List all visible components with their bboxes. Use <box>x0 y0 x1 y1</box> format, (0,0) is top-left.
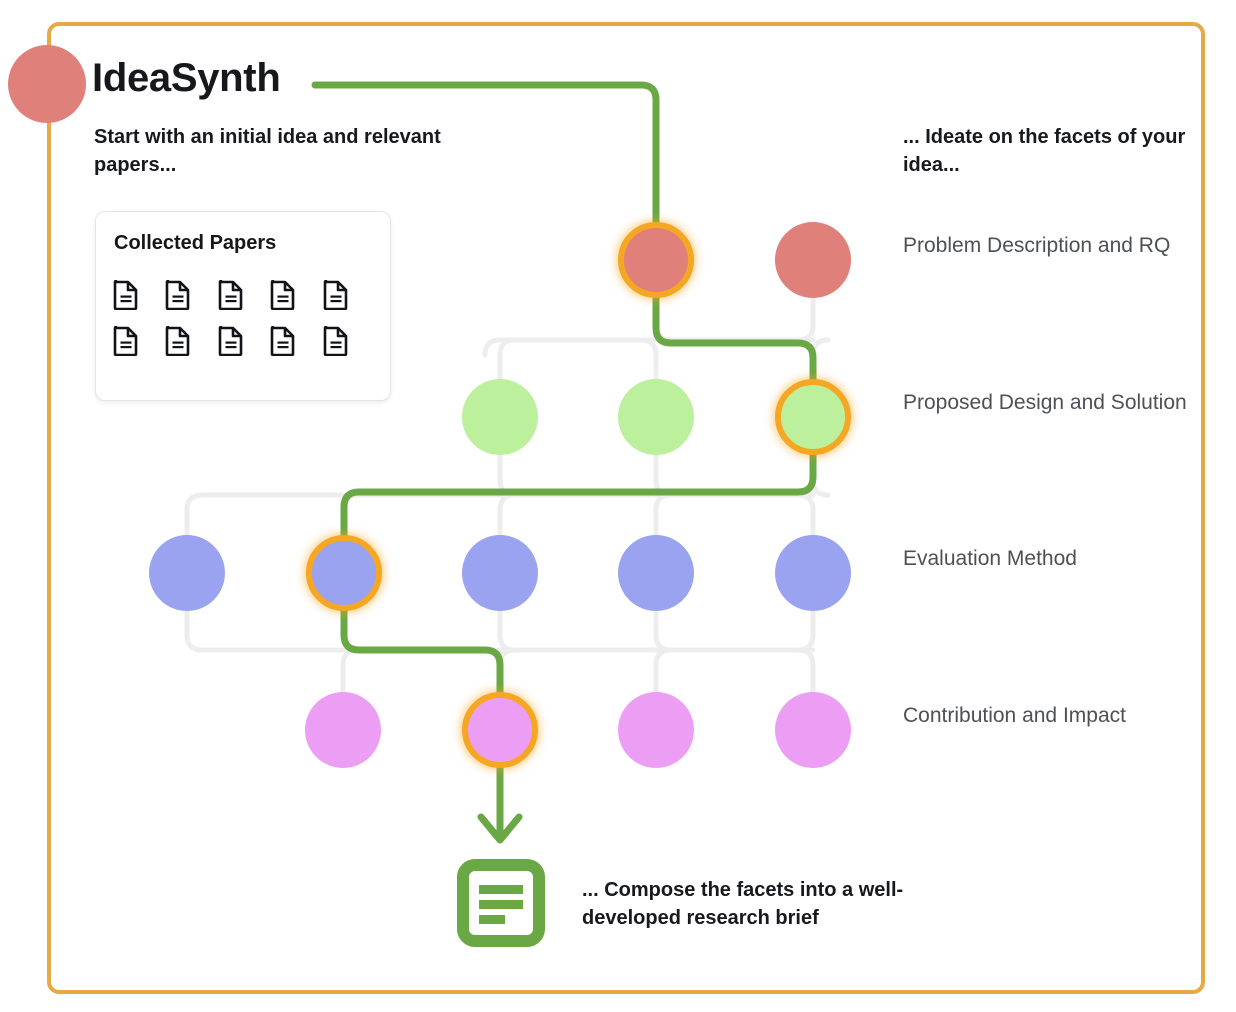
facet-node-evaluation-5[interactable] <box>775 535 851 611</box>
facet-node-design-2[interactable] <box>618 379 694 455</box>
collected-papers-card[interactable]: Collected Papers <box>95 211 391 401</box>
collected-papers-grid <box>113 280 375 356</box>
facet-node-evaluation-4[interactable] <box>618 535 694 611</box>
page-title: IdeaSynth <box>92 58 280 98</box>
ideasynth-diagram: IdeaSynth Start with an initial idea and… <box>0 0 1236 1012</box>
document-icon[interactable] <box>270 326 296 356</box>
intro-caption: Start with an initial idea and relevant … <box>94 124 454 179</box>
facet-node-evaluation-1[interactable] <box>149 535 225 611</box>
facet-node-contribution-2[interactable] <box>462 692 538 768</box>
document-icon[interactable] <box>113 280 139 310</box>
document-icon[interactable] <box>323 280 349 310</box>
facet-node-design-1[interactable] <box>462 379 538 455</box>
document-icon[interactable] <box>165 326 191 356</box>
research-brief-icon[interactable] <box>457 859 545 947</box>
document-icon[interactable] <box>218 280 244 310</box>
facet-label-contribution: Contribution and Impact <box>903 701 1193 731</box>
facet-label-problem: Problem Description and RQ <box>903 231 1193 261</box>
facet-node-design-3[interactable] <box>775 379 851 455</box>
document-icon[interactable] <box>270 280 296 310</box>
document-icon[interactable] <box>113 326 139 356</box>
facet-node-problem-2[interactable] <box>775 222 851 298</box>
facet-node-contribution-4[interactable] <box>775 692 851 768</box>
facet-node-contribution-1[interactable] <box>305 692 381 768</box>
logo-bubble <box>8 45 86 123</box>
facet-node-evaluation-3[interactable] <box>462 535 538 611</box>
facet-label-evaluation: Evaluation Method <box>903 544 1193 574</box>
collected-papers-title: Collected Papers <box>114 232 276 255</box>
facet-node-contribution-3[interactable] <box>618 692 694 768</box>
facet-label-design: Proposed Design and Solution <box>903 388 1193 418</box>
document-icon[interactable] <box>323 326 349 356</box>
compose-caption: ... Compose the facets into a well-devel… <box>582 877 982 932</box>
document-icon[interactable] <box>165 280 191 310</box>
ideate-caption: ... Ideate on the facets of your idea... <box>903 124 1193 179</box>
facet-node-problem-1[interactable] <box>618 222 694 298</box>
document-icon[interactable] <box>218 326 244 356</box>
facet-node-evaluation-2[interactable] <box>306 535 382 611</box>
